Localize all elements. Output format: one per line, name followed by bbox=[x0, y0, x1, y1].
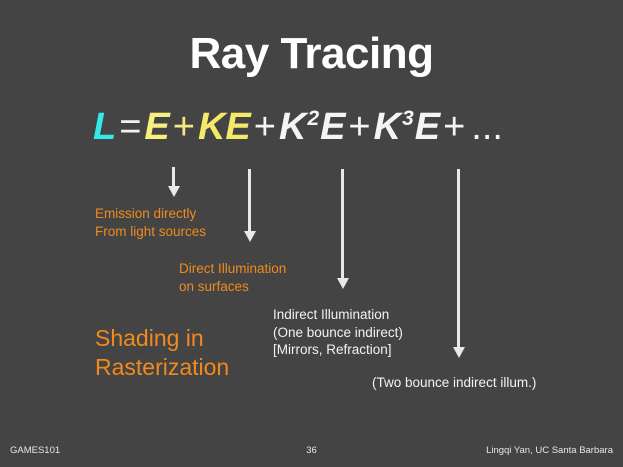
formula-token-plus-4: + bbox=[440, 104, 468, 152]
rendering-equation-formula: L=E+KE+K2E+K3E+... bbox=[93, 104, 506, 152]
annotation-two-bounce: (Two bounce indirect illum.) bbox=[372, 374, 536, 392]
arrow-head bbox=[244, 231, 256, 242]
slide-footer: GAMES101 36 Lingqi Yan, UC Santa Barbara bbox=[0, 445, 623, 459]
down-arrow-icon-direct-illumination bbox=[243, 169, 256, 242]
arrow-stem bbox=[172, 167, 175, 186]
annotation-indirect-illumination: Indirect Illumination (One bounce indire… bbox=[273, 306, 403, 359]
formula-token-L: L bbox=[93, 104, 116, 152]
arrow-stem bbox=[248, 169, 251, 231]
arrow-head bbox=[453, 347, 465, 358]
formula-token-plus-1: + bbox=[170, 104, 198, 152]
formula-token-K2: K2 bbox=[279, 104, 320, 152]
annotation-emission: Emission directly From light sources bbox=[95, 205, 206, 240]
arrow-head bbox=[337, 278, 349, 289]
slide-canvas: Ray Tracing L=E+KE+K2E+K3E+... Emission … bbox=[0, 0, 623, 467]
arrow-stem bbox=[341, 169, 344, 278]
formula-token-KE: KE bbox=[198, 104, 251, 152]
formula-token-equals: = bbox=[116, 104, 144, 152]
formula-token-plus-2: + bbox=[251, 104, 279, 152]
annotation-direct-illumination: Direct Illumination on surfaces bbox=[179, 260, 286, 295]
formula-token-K3-exponent: 3 bbox=[402, 107, 414, 130]
page-title: Ray Tracing bbox=[0, 29, 623, 80]
formula-token-K3-base: K bbox=[374, 106, 401, 148]
annotation-shading-in-rasterization: Shading in Rasterization bbox=[95, 324, 229, 383]
down-arrow-icon-indirect-illumination bbox=[336, 169, 349, 289]
arrow-head bbox=[168, 186, 180, 197]
footer-author: Lingqi Yan, UC Santa Barbara bbox=[486, 445, 613, 456]
formula-token-K3: K3 bbox=[374, 104, 415, 152]
down-arrow-icon-two-bounce bbox=[452, 169, 465, 358]
formula-token-plus-3: + bbox=[345, 104, 373, 152]
formula-token-K2-exponent: 2 bbox=[307, 107, 319, 130]
formula-token-E3: E bbox=[415, 104, 440, 152]
arrow-stem bbox=[457, 169, 460, 347]
formula-token-E1: E bbox=[144, 104, 169, 152]
formula-token-E2: E bbox=[320, 104, 345, 152]
formula-token-ellipsis: ... bbox=[468, 104, 506, 152]
down-arrow-icon-emission bbox=[167, 167, 180, 197]
formula-token-K2-base: K bbox=[279, 106, 306, 148]
